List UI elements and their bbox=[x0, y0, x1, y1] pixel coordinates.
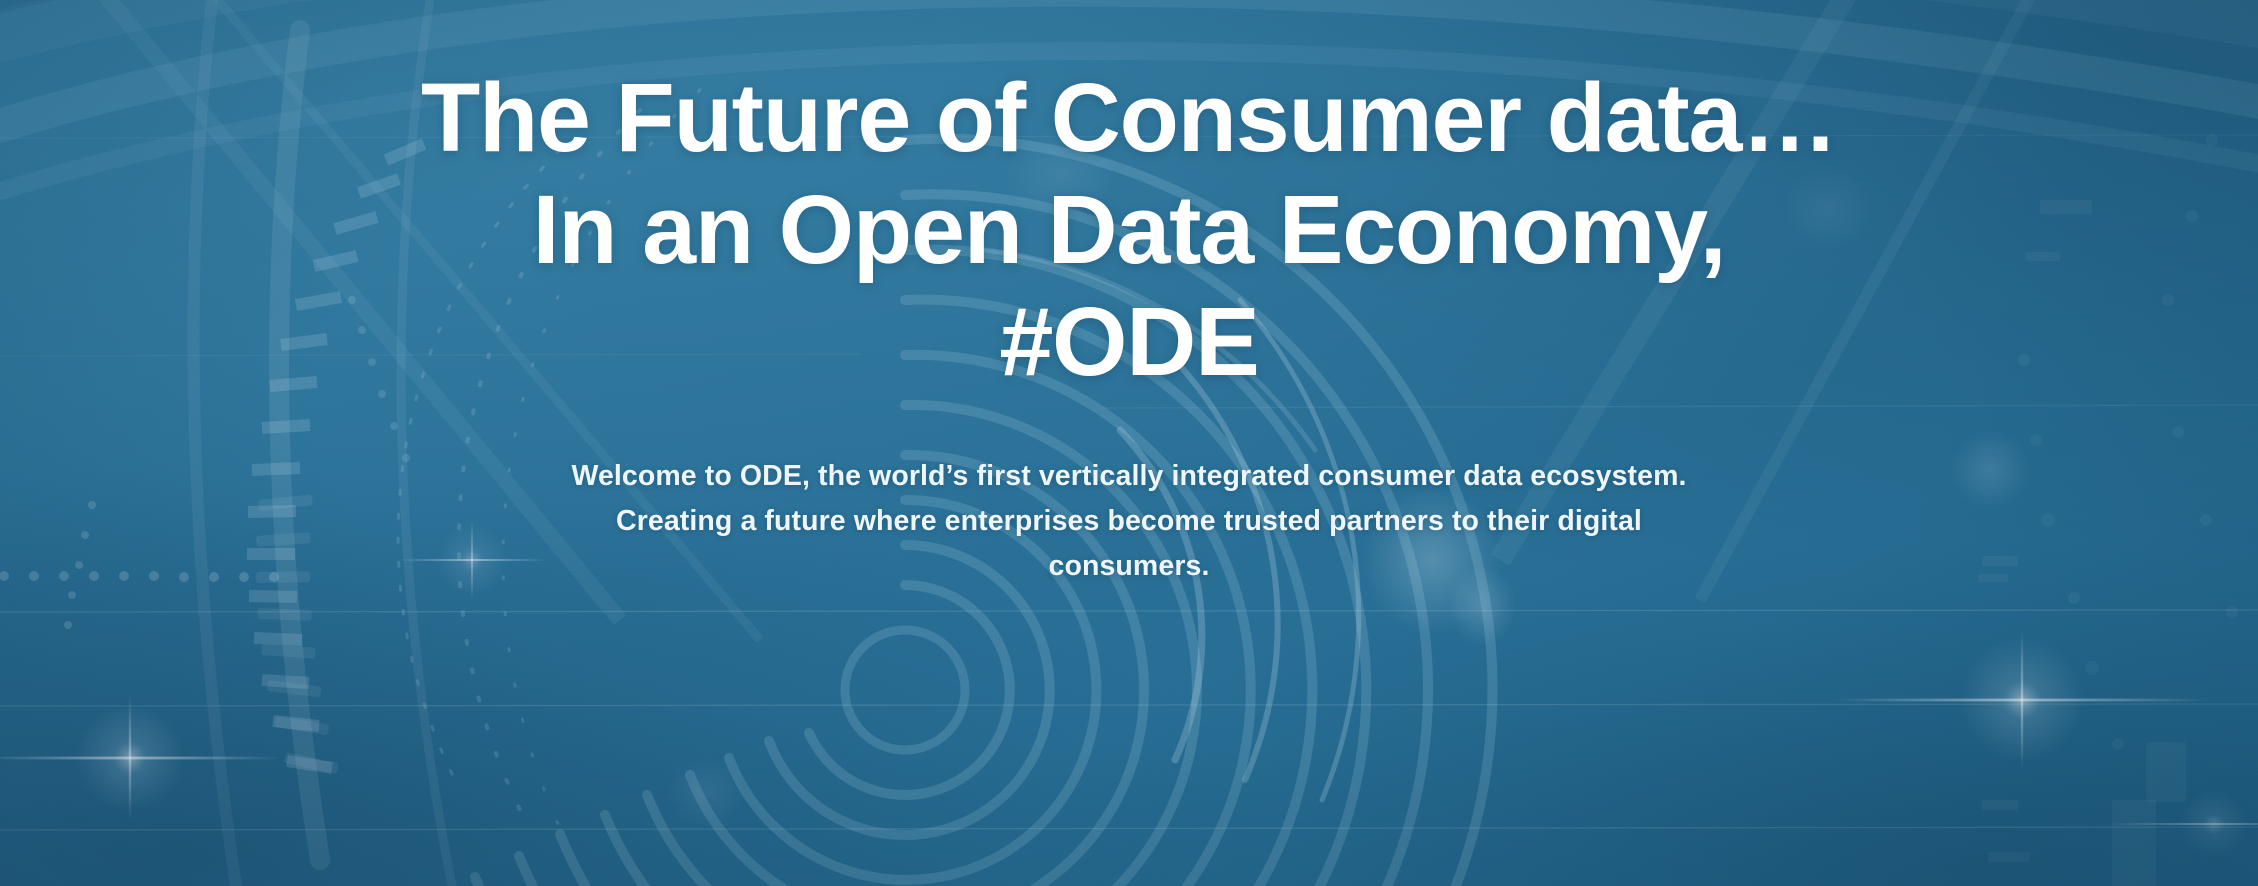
hero-banner: The Future of Consumer data… In an Open … bbox=[0, 0, 2258, 886]
headline-line-1: The Future of Consumer data… bbox=[49, 62, 2209, 174]
hero-content: The Future of Consumer data… In an Open … bbox=[0, 0, 2258, 886]
subcopy-line-2: Creating a future where enterprises beco… bbox=[519, 499, 1739, 544]
headline-line-2: In an Open Data Economy, bbox=[49, 174, 2209, 286]
headline-line-3: #ODE bbox=[49, 286, 2209, 398]
page-title: The Future of Consumer data… In an Open … bbox=[49, 62, 2209, 398]
subcopy-line-3: consumers. bbox=[519, 544, 1739, 589]
hero-subcopy: Welcome to ODE, the world’s first vertic… bbox=[519, 454, 1739, 589]
subcopy-line-1: Welcome to ODE, the world’s first vertic… bbox=[519, 454, 1739, 499]
